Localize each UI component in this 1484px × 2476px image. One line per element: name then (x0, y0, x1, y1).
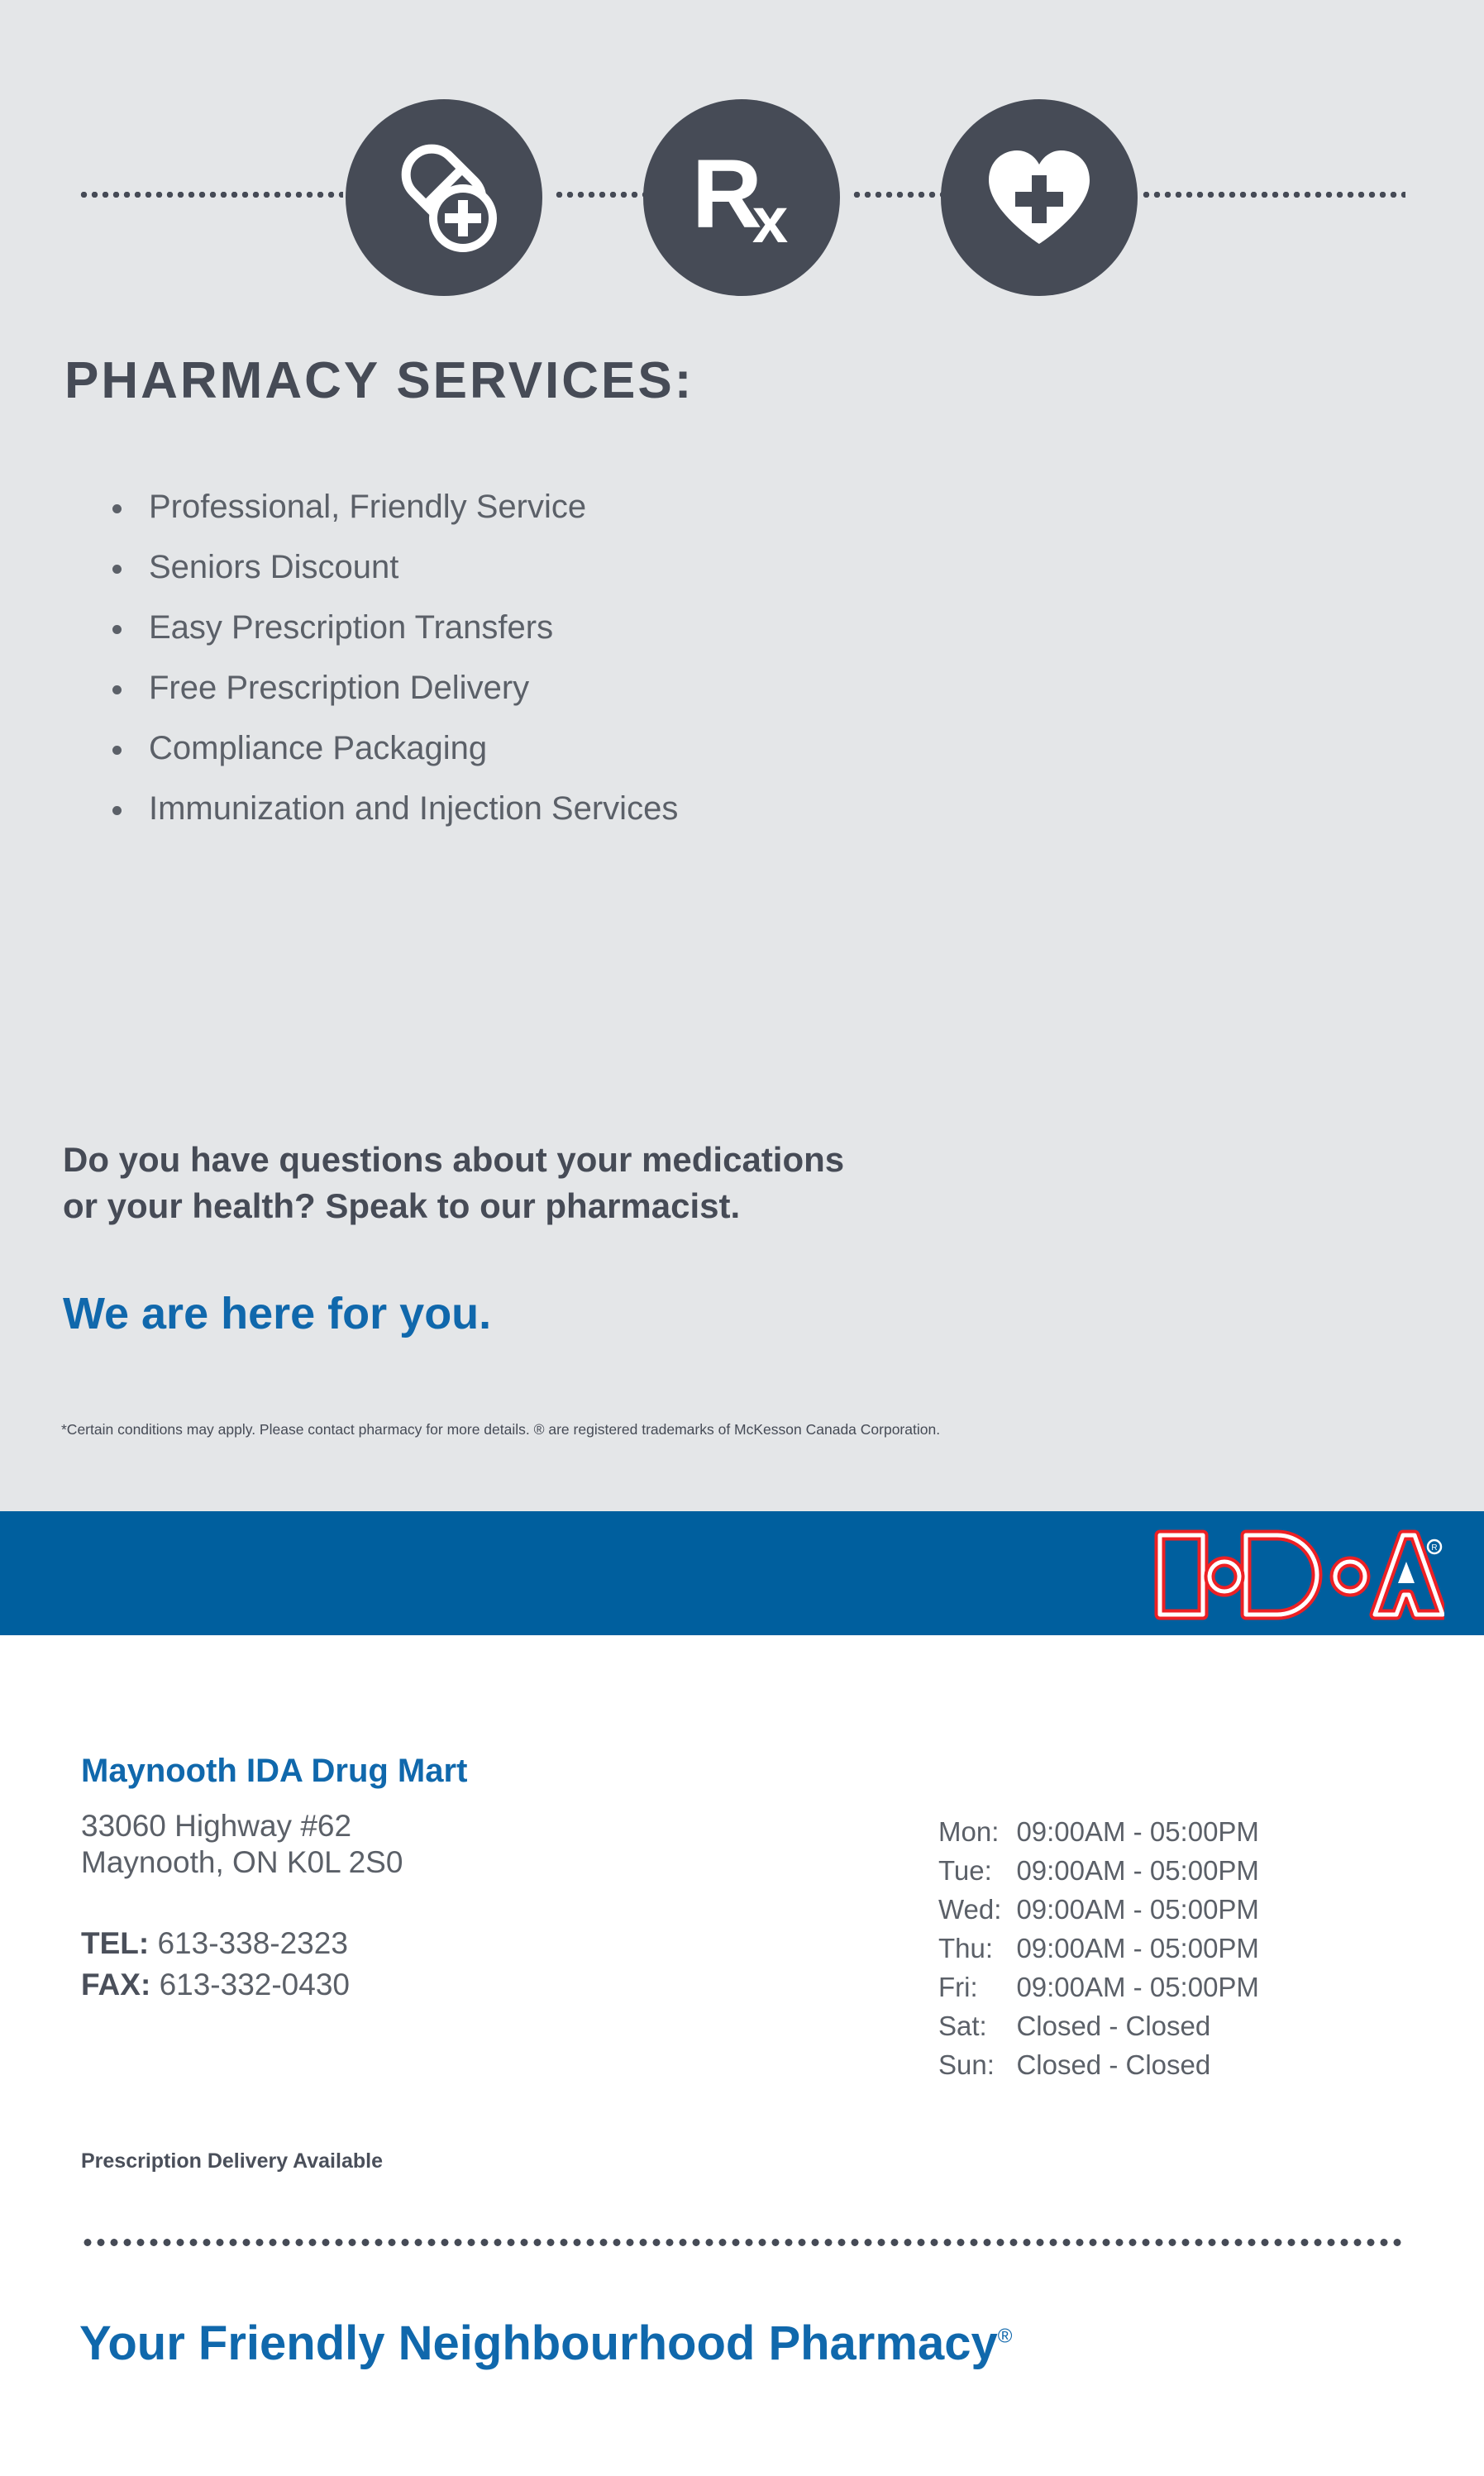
telephone-value[interactable]: 613-338-2323 (157, 1926, 347, 1960)
hours-day: Wed: (938, 1890, 1016, 1929)
hours-day: Fri: (938, 1968, 1016, 2006)
dotted-rule-mid-left (554, 192, 645, 198)
hours-time: Closed - Closed (1016, 2045, 1259, 2084)
delivery-note: Prescription Delivery Available (81, 2149, 383, 2173)
rx-icon-x: x (752, 184, 785, 256)
icon-strip: Rx (0, 83, 1484, 314)
hours-time: 09:00AM - 05:00PM (1016, 1968, 1259, 2006)
store-address-line2: Maynooth, ON K0L 2S0 (81, 1845, 403, 1880)
hours-day: Sun: (938, 2045, 1016, 2084)
pharmacist-question-line2: or your health? Speak to our pharmacist. (63, 1183, 844, 1229)
telephone-label: TEL: (81, 1926, 149, 1960)
store-fax: FAX: 613-332-0430 (81, 1968, 350, 2002)
pills-icon (382, 136, 506, 260)
hours-time: 09:00AM - 05:00PM (1016, 1851, 1259, 1890)
registered-mark: ® (998, 2326, 1013, 2348)
list-item: Easy Prescription Transfers (107, 598, 678, 658)
disclaimer-text: *Certain conditions may apply. Please co… (61, 1421, 940, 1438)
heart-plus-icon (977, 136, 1101, 260)
svg-text:R: R (1431, 1543, 1437, 1553)
fax-value: 613-332-0430 (160, 1968, 350, 2001)
page-title: PHARMACY SERVICES: (64, 351, 694, 410)
table-row: Mon: 09:00AM - 05:00PM (938, 1812, 1259, 1851)
store-hours-table: Mon: 09:00AM - 05:00PM Tue: 09:00AM - 05… (938, 1812, 1259, 2084)
services-list: Professional, Friendly Service Seniors D… (107, 477, 678, 839)
fax-label: FAX: (81, 1968, 150, 2001)
hours-day: Mon: (938, 1812, 1016, 1851)
table-row: Sun: Closed - Closed (938, 2045, 1259, 2084)
ida-logo: R (1153, 1529, 1444, 1621)
dotted-rule-right (1141, 192, 1405, 198)
table-row: Wed: 09:00AM - 05:00PM (938, 1890, 1259, 1929)
rx-icon: Rx (692, 146, 792, 243)
store-address-line1: 33060 Highway #62 (81, 1809, 351, 1844)
rx-icon-badge: Rx (643, 99, 840, 296)
hours-time: 09:00AM - 05:00PM (1016, 1812, 1259, 1851)
store-telephone: TEL: 613-338-2323 (81, 1926, 348, 1961)
hours-day: Thu: (938, 1929, 1016, 1968)
pills-icon-badge (346, 99, 542, 296)
list-item: Seniors Discount (107, 537, 678, 598)
hours-time: Closed - Closed (1016, 2006, 1259, 2045)
hours-day: Sat: (938, 2006, 1016, 2045)
hours-time: 09:00AM - 05:00PM (1016, 1929, 1259, 1968)
footer-divider (81, 2239, 1404, 2246)
list-item: Free Prescription Delivery (107, 658, 678, 718)
store-name: Maynooth IDA Drug Mart (81, 1753, 467, 1790)
table-row: Tue: 09:00AM - 05:00PM (938, 1851, 1259, 1890)
hours-day: Tue: (938, 1851, 1016, 1890)
list-item: Professional, Friendly Service (107, 477, 678, 537)
list-item: Immunization and Injection Services (107, 779, 678, 839)
rx-icon-r: R (692, 140, 759, 249)
dotted-rule-mid-right (852, 192, 942, 198)
hours-time: 09:00AM - 05:00PM (1016, 1890, 1259, 1929)
table-row: Fri: 09:00AM - 05:00PM (938, 1968, 1259, 2006)
pharmacist-question: Do you have questions about your medicat… (63, 1137, 844, 1229)
table-row: Thu: 09:00AM - 05:00PM (938, 1929, 1259, 1968)
services-panel: Rx PHARMACY SERVICES: Professional, Frie… (0, 0, 1484, 1511)
list-item: Compliance Packaging (107, 718, 678, 779)
footer-tagline-text: Your Friendly Neighbourhood Pharmacy (79, 2316, 998, 2370)
pharmacist-question-line1: Do you have questions about your medicat… (63, 1137, 844, 1183)
footer-tagline: Your Friendly Neighbourhood Pharmacy® (79, 2316, 1012, 2371)
heart-plus-icon-badge (941, 99, 1138, 296)
dotted-rule-left (79, 192, 343, 198)
table-row: Sat: Closed - Closed (938, 2006, 1259, 2045)
promise-headline: We are here for you. (63, 1288, 491, 1339)
